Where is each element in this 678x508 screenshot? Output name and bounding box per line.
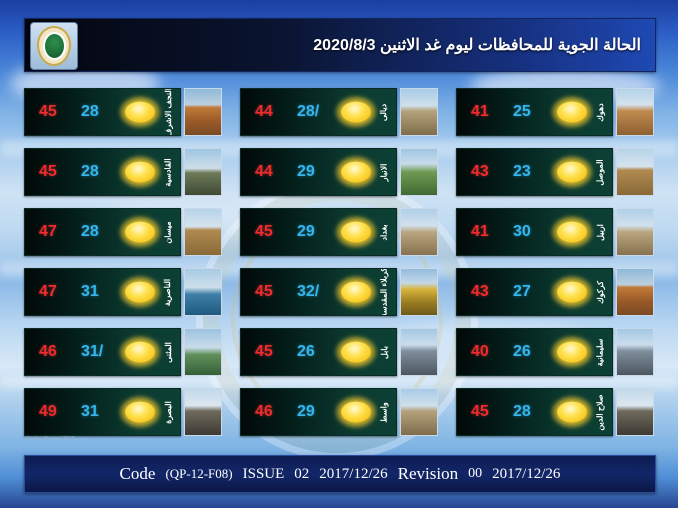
author-credit: Haider Alsaeet 2018 [26,436,75,442]
forecast-card[interactable]: 41 25 دهوك [456,88,654,136]
forecast-panel: 43 27 كركوك [456,268,613,316]
min-temperature: 23 [513,163,531,181]
sun-icon [552,217,592,247]
city-photo [184,268,222,316]
forecast-panel: 45 28 صلاح الدين [456,388,613,436]
forecast-column-left: 45 28 النجف الاشرف 45 28 القادسية 47 [24,88,222,440]
city-photo [616,148,654,196]
footer-issue-label: ISSUE [243,466,285,483]
max-temperature: 49 [39,403,57,421]
min-temperature: 26 [297,343,315,361]
city-photo [184,208,222,256]
city-photo [400,208,438,256]
forecast-panel: 44 28/ ديالى [240,88,397,136]
min-temperature: 31 [81,403,99,421]
city-photo [616,88,654,136]
city-label: ميسان [158,209,178,255]
min-temperature: 27 [513,283,531,301]
city-label: سليمانية [590,329,610,375]
city-photo [184,388,222,436]
sun-icon [552,337,592,367]
city-label: ديالى [374,89,394,135]
forecast-card[interactable]: 49 31 البصرة [24,388,222,436]
city-label: كربلاء المقدسة [374,269,394,315]
max-temperature: 44 [255,163,273,181]
forecast-card[interactable]: 43 27 كركوك [456,268,654,316]
city-label: الناصرية [158,269,178,315]
min-temperature: 25 [513,103,531,121]
sun-icon [552,397,592,427]
min-temperature: 28 [81,223,99,241]
forecast-panel: 49 31 البصرة [24,388,181,436]
max-temperature: 45 [39,163,57,181]
city-label: بغداد [374,209,394,255]
sun-icon [120,157,160,187]
forecast-card[interactable]: 41 30 اربيل [456,208,654,256]
city-photo [400,148,438,196]
forecast-card[interactable]: 40 26 سليمانية [456,328,654,376]
footer-issue-number: 02 [294,466,309,483]
min-temperature: 29 [297,223,315,241]
forecast-panel: 47 28 ميسان [24,208,181,256]
max-temperature: 41 [471,223,489,241]
forecast-column-right: 41 25 دهوك 43 23 الموصل 41 [456,88,654,440]
city-label: الموصل [590,149,610,195]
min-temperature: 29 [297,163,315,181]
city-label: كركوك [590,269,610,315]
forecast-panel: 45 26 بابل [240,328,397,376]
sun-icon [336,217,376,247]
forecast-card[interactable]: 46 31/ المثنى [24,328,222,376]
footer-code-value: (QP-12-F08) [165,466,232,482]
sun-icon [552,277,592,307]
forecast-panel: 44 29 الانبار [240,148,397,196]
forecast-panel: 46 29 واسط [240,388,397,436]
forecast-card[interactable]: 46 29 واسط [240,388,438,436]
forecast-card[interactable]: 45 28 القادسية [24,148,222,196]
footer-revision-label: Revision [398,464,458,484]
max-temperature: 46 [39,343,57,361]
max-temperature: 45 [39,103,57,121]
city-label: واسط [374,389,394,435]
forecast-panel: 41 25 دهوك [456,88,613,136]
forecast-panel: 47 31 الناصرية [24,268,181,316]
forecast-panel: 45 28 النجف الاشرف [24,88,181,136]
max-temperature: 47 [39,283,57,301]
city-photo [400,268,438,316]
forecast-panel: 45 32/ كربلاء المقدسة [240,268,397,316]
city-photo [184,88,222,136]
forecast-panel: 45 28 القادسية [24,148,181,196]
sun-icon [336,277,376,307]
weather-authority-logo-icon [30,22,78,70]
city-label: القادسية [158,149,178,195]
header-bar: الحالة الجوية للمحافظات ليوم غد الاثنين … [24,18,656,72]
max-temperature: 45 [255,283,273,301]
min-temperature: 32/ [297,283,319,301]
forecast-panel: 41 30 اربيل [456,208,613,256]
forecast-card[interactable]: 45 28 صلاح الدين [456,388,654,436]
max-temperature: 43 [471,163,489,181]
footer-revision-date: 2017/12/26 [492,466,560,483]
max-temperature: 45 [471,403,489,421]
city-photo [400,388,438,436]
forecast-card[interactable]: 47 28 ميسان [24,208,222,256]
min-temperature: 31 [81,283,99,301]
forecast-card[interactable]: 47 31 الناصرية [24,268,222,316]
forecast-panel: 46 31/ المثنى [24,328,181,376]
footer-code-label: Code [120,464,156,484]
forecast-card[interactable]: 45 32/ كربلاء المقدسة [240,268,438,316]
city-photo [616,208,654,256]
city-photo [400,88,438,136]
sun-icon [120,217,160,247]
min-temperature: 29 [297,403,315,421]
forecast-column-middle: 44 28/ ديالى 44 29 الانبار 45 [240,88,438,440]
forecast-card[interactable]: 44 29 الانبار [240,148,438,196]
logo-core [43,32,66,60]
city-photo [616,388,654,436]
forecast-panel: 43 23 الموصل [456,148,613,196]
max-temperature: 41 [471,103,489,121]
city-photo [400,328,438,376]
forecast-panel: 45 29 بغداد [240,208,397,256]
sun-icon [120,277,160,307]
max-temperature: 46 [255,403,273,421]
footer-issue-date: 2017/12/26 [319,466,387,483]
sun-icon [336,337,376,367]
city-photo [184,328,222,376]
forecast-card[interactable]: 45 29 بغداد [240,208,438,256]
min-temperature: 26 [513,343,531,361]
max-temperature: 45 [255,223,273,241]
city-label: البصرة [158,389,178,435]
weather-forecast-poster: الحالة الجوية للمحافظات ليوم غد الاثنين … [0,0,678,508]
sun-icon [336,157,376,187]
footer-bar: Code (QP-12-F08) ISSUE 02 2017/12/26 Rev… [24,455,656,493]
city-label: صلاح الدين [590,389,610,435]
sun-icon [120,97,160,127]
forecast-grid: 45 28 النجف الاشرف 45 28 القادسية 47 [24,88,654,440]
sun-icon [552,157,592,187]
city-label: اربيل [590,209,610,255]
sun-icon [336,397,376,427]
max-temperature: 43 [471,283,489,301]
city-label: دهوك [590,89,610,135]
forecast-card[interactable]: 45 28 النجف الاشرف [24,88,222,136]
min-temperature: 31/ [81,343,103,361]
city-photo [616,328,654,376]
min-temperature: 28 [81,103,99,121]
forecast-card[interactable]: 43 23 الموصل [456,148,654,196]
min-temperature: 28 [81,163,99,181]
max-temperature: 47 [39,223,57,241]
sun-icon [336,97,376,127]
city-label: المثنى [158,329,178,375]
max-temperature: 45 [255,343,273,361]
min-temperature: 28 [513,403,531,421]
footer-revision-number: 00 [468,466,482,482]
forecast-panel: 40 26 سليمانية [456,328,613,376]
city-label: بابل [374,329,394,375]
page-title: الحالة الجوية للمحافظات ليوم غد الاثنين … [313,19,641,71]
forecast-card[interactable]: 44 28/ ديالى [240,88,438,136]
city-photo [184,148,222,196]
max-temperature: 40 [471,343,489,361]
logo-oval [37,26,71,66]
city-label: النجف الاشرف [158,89,178,135]
max-temperature: 44 [255,103,273,121]
sun-icon [120,337,160,367]
forecast-card[interactable]: 45 26 بابل [240,328,438,376]
city-label: الانبار [374,149,394,195]
sun-icon [120,397,160,427]
sun-icon [552,97,592,127]
min-temperature: 30 [513,223,531,241]
city-photo [616,268,654,316]
min-temperature: 28/ [297,103,319,121]
